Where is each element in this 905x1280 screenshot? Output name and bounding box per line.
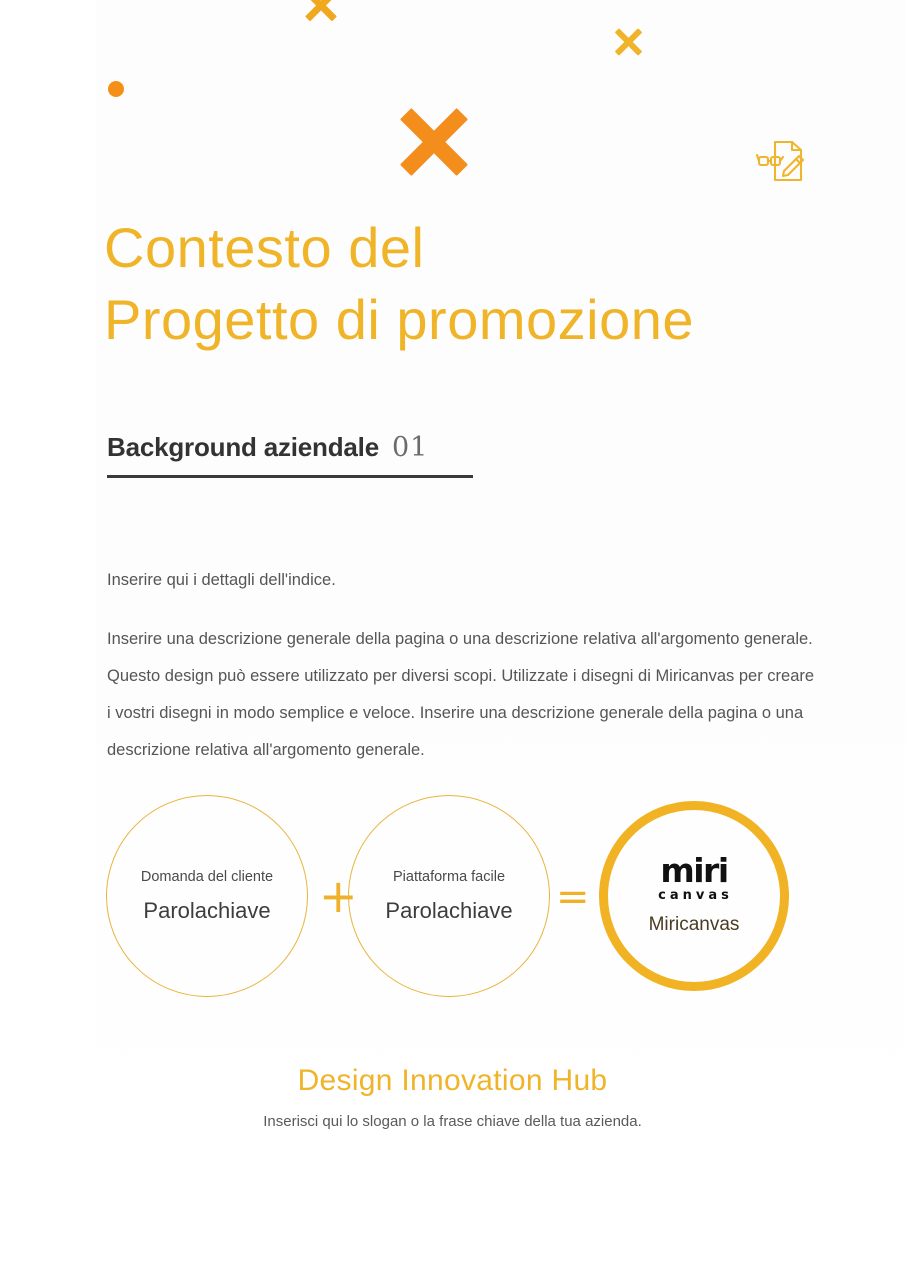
diagram-circle-platform: Piattaforma facile Parolachiave (348, 795, 550, 997)
dot-icon (108, 81, 124, 97)
x-mark-icon-top-right (609, 23, 647, 61)
section-heading-row: Background aziendale 01 (107, 432, 607, 463)
diagram-circle-result-label: Miricanvas (649, 914, 740, 936)
miricanvas-logo: miri canvas (655, 856, 733, 904)
diagram-circle-customer: Domanda del cliente Parolachiave (106, 795, 308, 997)
diagram-circle-platform-title: Parolachiave (385, 898, 512, 924)
document-review-icon (755, 138, 807, 184)
page-title-line-1: Contesto del (104, 212, 864, 284)
body-paragraph-1: Inserire qui i dettagli dell'indice. (107, 562, 819, 599)
footer-slogan: Design Innovation Hub (0, 1060, 905, 1102)
page-title-line-2: Progetto di promozione (104, 284, 864, 356)
diagram-circle-customer-title: Parolachiave (143, 898, 270, 924)
footer-slogan-subtitle: Inserisci qui lo slogan o la frase chiav… (0, 1111, 905, 1133)
body-paragraph-2: Inserire una descrizione generale della … (107, 621, 819, 769)
diagram-circle-customer-subtitle: Domanda del cliente (141, 868, 273, 886)
miricanvas-logo-secondary: canvas (658, 888, 733, 904)
venn-diagram: Domanda del cliente Parolachiave + Piatt… (104, 795, 810, 1007)
x-mark-icon-large (392, 100, 476, 184)
section-heading-number: 01 (392, 432, 428, 463)
body-copy: Inserire qui i dettagli dell'indice. Ins… (107, 562, 819, 769)
section-heading: Background aziendale 01 (107, 432, 607, 478)
section-heading-title: Background aziendale (107, 432, 379, 463)
footer-slogan-block: Design Innovation Hub Inserisci qui lo s… (0, 1060, 905, 1133)
slide-canvas: Contesto del Progetto di promozione Back… (0, 0, 905, 1280)
miricanvas-logo-primary: miri (660, 856, 727, 886)
equals-operator-icon: = (556, 877, 590, 917)
x-mark-icon-top-small (300, 0, 342, 26)
page-title: Contesto del Progetto di promozione (104, 212, 864, 356)
section-heading-rule (107, 475, 473, 478)
diagram-circle-platform-subtitle: Piattaforma facile (393, 868, 505, 886)
diagram-circle-result: miri canvas Miricanvas (599, 801, 789, 991)
